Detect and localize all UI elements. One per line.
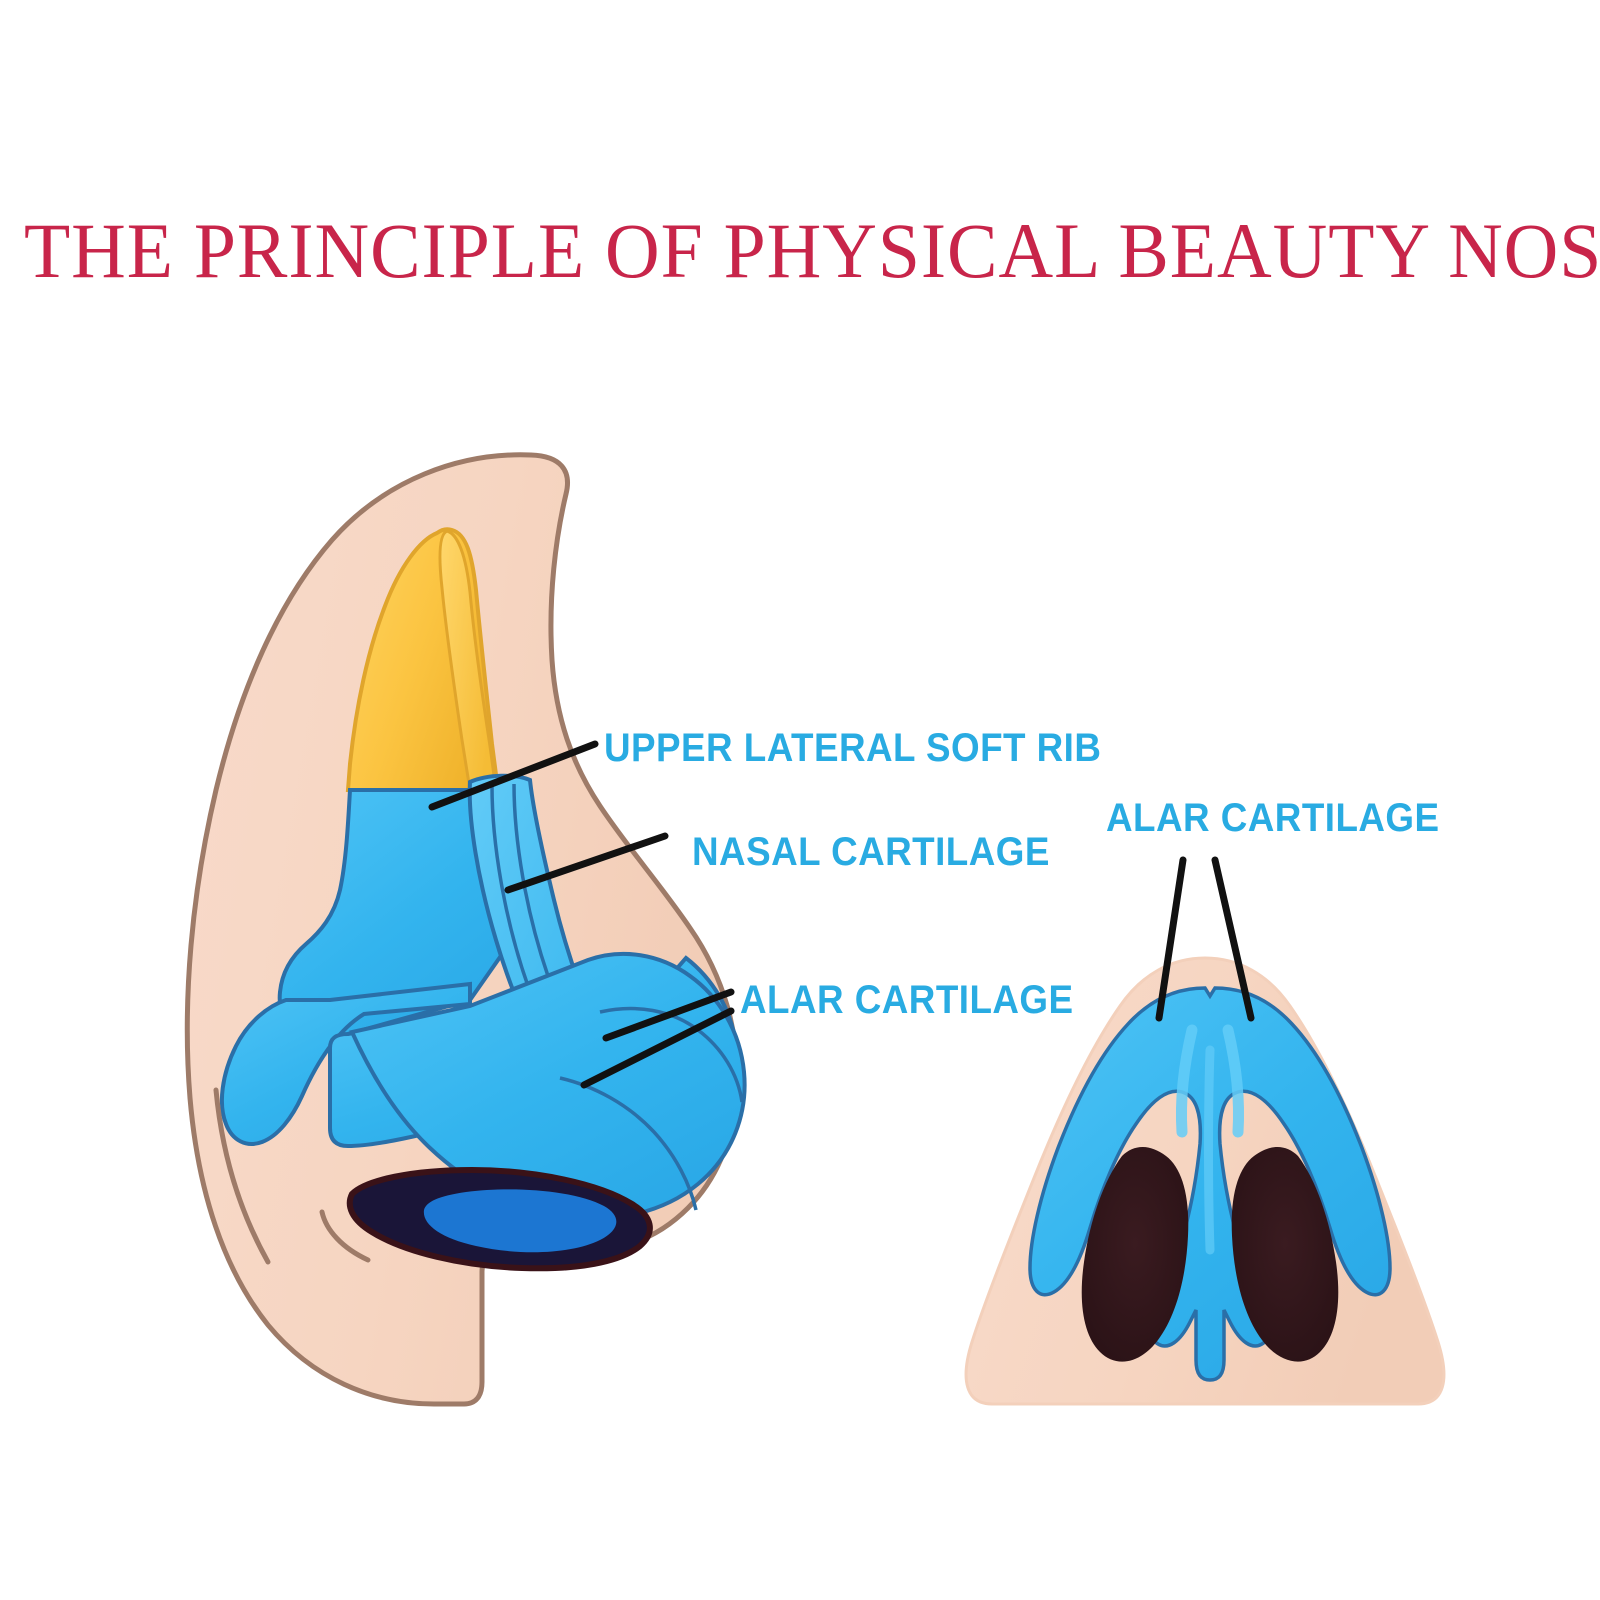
nose-base-view xyxy=(966,860,1444,1404)
nose-profile-view xyxy=(187,455,744,1404)
label-alar-cartilage-profile: ALAR CARTILAGE xyxy=(740,978,1074,1023)
label-upper-lateral-soft-rib: UPPER LATERAL SOFT RIB xyxy=(604,726,1101,771)
label-alar-cartilage-base: ALAR CARTILAGE xyxy=(1106,796,1440,841)
diagram-canvas: THE PRINCIPLE OF PHYSICAL BEAUTY NOSE xyxy=(0,0,1600,1600)
label-nasal-cartilage: NASAL CARTILAGE xyxy=(692,830,1050,875)
base-columella-ridge xyxy=(1209,1050,1211,1250)
